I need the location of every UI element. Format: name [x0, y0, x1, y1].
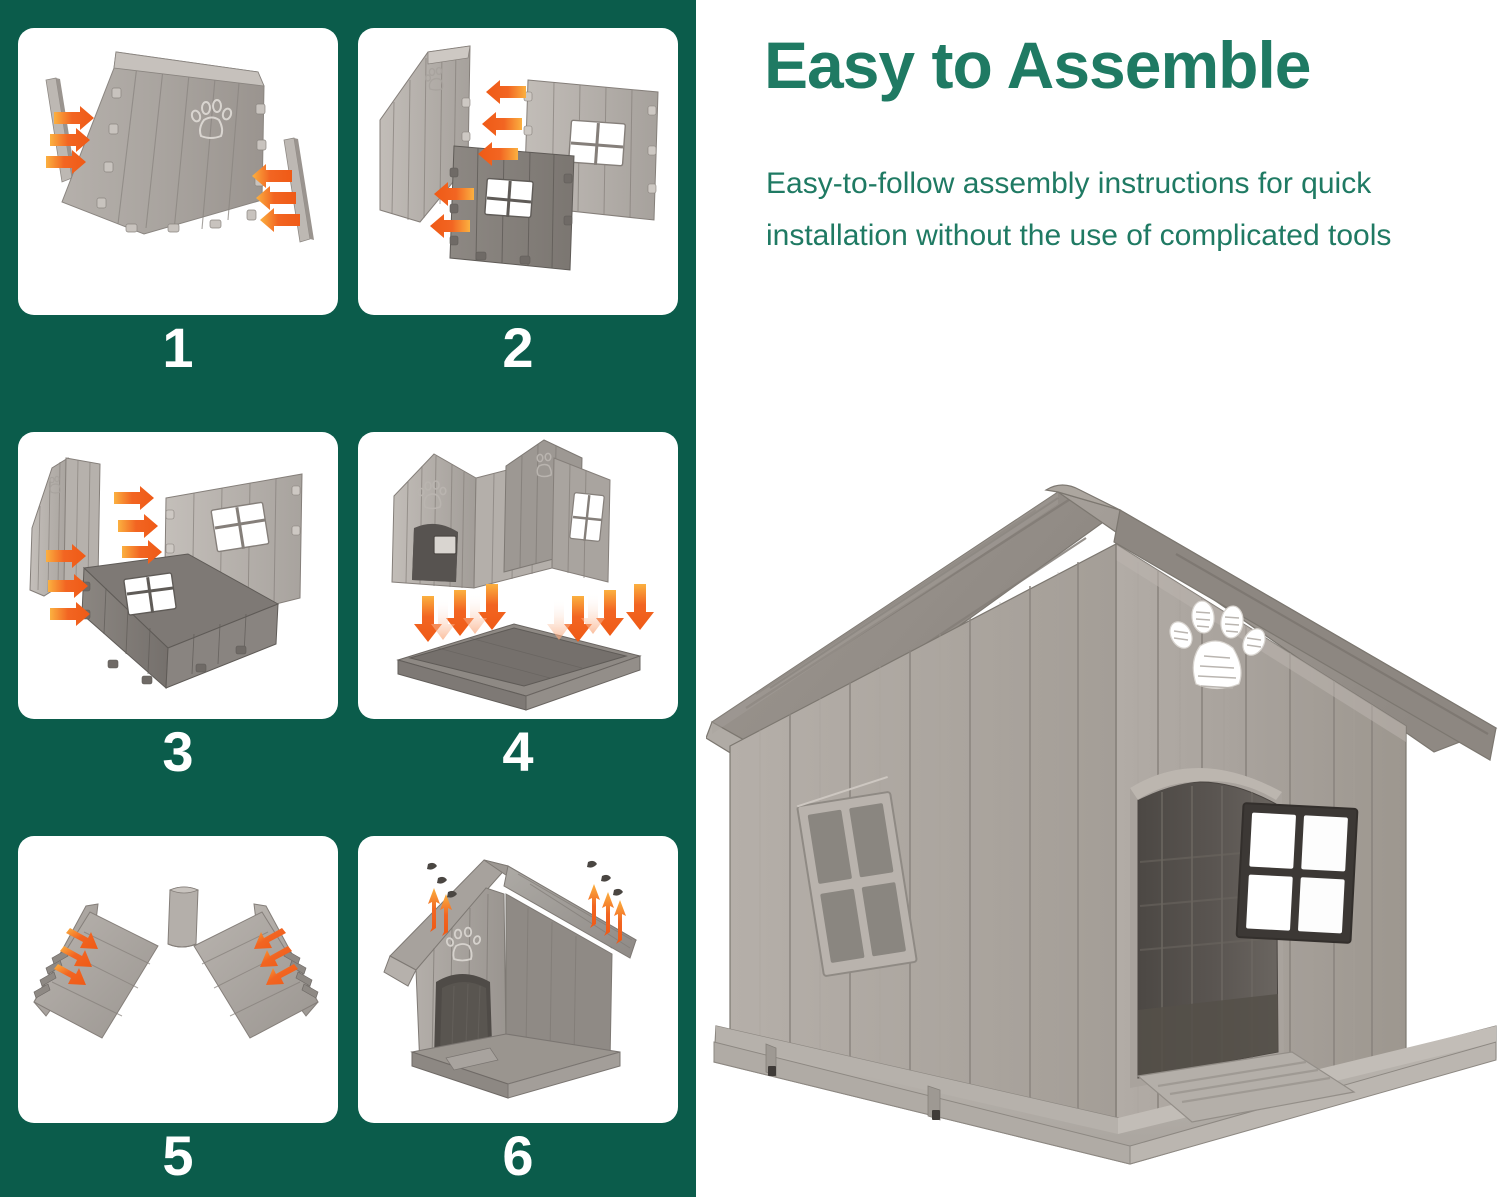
three-walls-joined-with-arrows-icon [18, 432, 338, 719]
step-6-number: 6 [358, 1125, 678, 1187]
walls-lowering-onto-base-floor-icon [358, 432, 678, 719]
step-5-number: 5 [18, 1125, 338, 1187]
product-hero-image [706, 470, 1500, 1180]
infographic-page: 1 [0, 0, 1500, 1197]
page-subtitle: Easy-to-follow assembly instructions for… [766, 158, 1466, 262]
step-5-card [18, 836, 338, 1123]
step-1-card [18, 28, 338, 315]
front-four-pane-window [1237, 803, 1358, 943]
completed-dog-house-with-screws-icon [358, 836, 678, 1123]
step-1: 1 [18, 28, 338, 388]
step-2: 2 [358, 28, 678, 388]
step-3: 3 [18, 432, 338, 792]
step-4-number: 4 [358, 721, 678, 783]
step-6-card [358, 836, 678, 1123]
page-title: Easy to Assemble [764, 26, 1484, 104]
step-4: 4 [358, 432, 678, 792]
panel-and-two-trim-strips-with-arrows-icon [18, 28, 338, 315]
assembly-steps-panel: 1 [0, 0, 696, 1197]
step-2-card [358, 28, 678, 315]
two-roof-halves-and-ridge-cap-icon [18, 836, 338, 1123]
right-content: Easy to Assemble Easy-to-follow assembly… [696, 0, 1500, 1197]
step-3-card [18, 432, 338, 719]
steps-grid: 1 [0, 0, 696, 1197]
step-4-card [358, 432, 678, 719]
step-1-number: 1 [18, 317, 338, 379]
two-side-walls-and-back-panel-with-arrows-icon [358, 28, 678, 315]
step-2-number: 2 [358, 317, 678, 379]
step-3-number: 3 [18, 721, 338, 783]
step-5: 5 [18, 836, 338, 1196]
step-6: 6 [358, 836, 678, 1196]
